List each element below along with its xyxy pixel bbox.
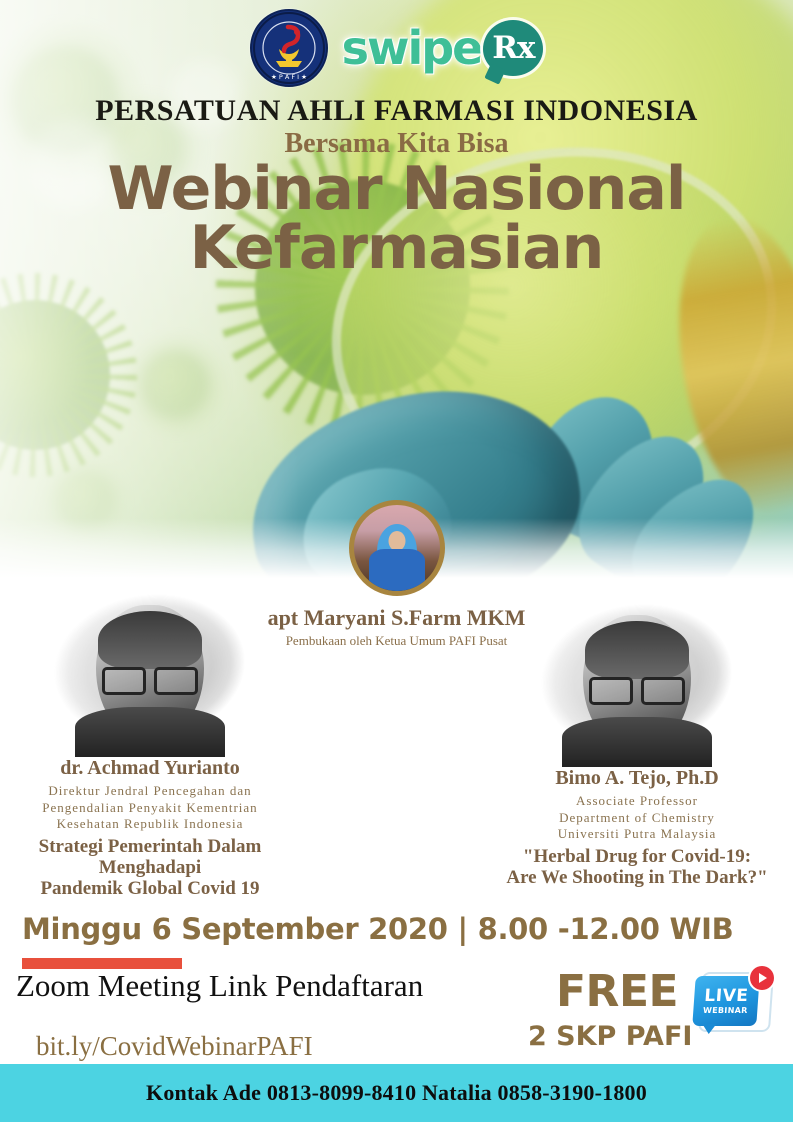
- speaker-topic-line: Are We Shooting in The Dark?": [487, 867, 787, 888]
- pafi-logo-icon: ★ P A F I ★: [250, 9, 328, 87]
- speaker-shoulders: [562, 717, 712, 767]
- headline-block: PERSATUAN AHLI FARMASI INDONESIA Bersama…: [0, 95, 793, 277]
- speaker-shoulders: [75, 707, 225, 757]
- badge-webinar-text: WEBINAR: [703, 1007, 748, 1015]
- speaker-affiliation-line: Pengendalian Penyakit Kementrian: [0, 800, 300, 817]
- speaker-affiliation-line: Universiti Putra Malaysia: [487, 826, 787, 843]
- speaker-topic: Strategi Pemerintah Dalam Menghadapi Pan…: [0, 836, 300, 900]
- speaker-name: dr. Achmad Yurianto: [0, 757, 300, 780]
- center-speaker-name: apt Maryani S.Farm MKM: [0, 606, 793, 630]
- logo-row: ★ P A F I ★ swipe Rx: [0, 8, 793, 88]
- registration-link[interactable]: bit.ly/CovidWebinarPAFI: [36, 1031, 313, 1062]
- speaker-topic-line: Strategi Pemerintah Dalam Menghadapi: [0, 836, 300, 879]
- skp-credits-label: 2 SKP PAFI: [528, 1021, 692, 1052]
- platform-registration-label: Zoom Meeting Link Pendaftaran: [16, 968, 423, 1004]
- glasses-icon: [102, 667, 198, 689]
- play-button-icon: [750, 966, 774, 990]
- badge-live-text: LIVE: [704, 988, 749, 1005]
- rx-bubble-icon: Rx: [483, 20, 543, 76]
- speaker-topic-line: Pandemik Global Covid 19: [0, 878, 300, 899]
- center-speaker: apt Maryani S.Farm MKM Pembukaan oleh Ke…: [0, 500, 793, 648]
- speaker-affiliation-line: Kesehatan Republik Indonesia: [0, 816, 300, 833]
- speaker-affiliation-line: Direktur Jendral Pencegahan dan: [0, 783, 300, 800]
- speaker-name: Bimo A. Tejo, Ph.D: [487, 767, 787, 790]
- rx-label: Rx: [492, 30, 534, 66]
- avatar-body: [369, 549, 425, 591]
- event-datetime: Minggu 6 September 2020 | 8.00 -12.00 WI…: [22, 912, 733, 946]
- speaker-topic: "Herbal Drug for Covid-19: Are We Shooti…: [487, 846, 787, 889]
- center-speaker-role: Pembukaan oleh Ketua Umum PAFI Pusat: [0, 634, 793, 648]
- price-free-label: FREE: [556, 966, 678, 1017]
- poster-title: Webinar Nasional Kefarmasian: [0, 160, 793, 278]
- speaker-affiliation: Associate Professor Department of Chemis…: [487, 793, 787, 843]
- swiperx-logo: swipe Rx: [342, 20, 544, 76]
- live-webinar-badge: LIVE WEBINAR: [694, 970, 772, 1036]
- contact-text: Kontak Ade 0813-8099-8410 Natalia 0858-3…: [146, 1080, 647, 1106]
- webinar-poster: ★ P A F I ★ swipe Rx PERSATUAN AHLI FARM…: [0, 0, 793, 1122]
- speaker-affiliation-line: Department of Chemistry: [487, 810, 787, 827]
- avatar-face: [388, 531, 405, 551]
- center-speaker-avatar: [349, 500, 445, 596]
- speaker-topic-line: "Herbal Drug for Covid-19:: [487, 846, 787, 867]
- swipe-wordmark: swipe: [342, 25, 482, 71]
- poster-title-line2: Kefarmasian: [0, 219, 793, 278]
- glasses-icon: [589, 677, 685, 699]
- svg-text:★ P A F I ★: ★ P A F I ★: [271, 73, 307, 81]
- badge-front-layer: LIVE WEBINAR: [692, 976, 759, 1026]
- speaker-affiliation-line: Associate Professor: [487, 793, 787, 810]
- contact-footer-bar: Kontak Ade 0813-8099-8410 Natalia 0858-3…: [0, 1064, 793, 1122]
- organization-name: PERSATUAN AHLI FARMASI INDONESIA: [0, 95, 793, 127]
- speaker-affiliation: Direktur Jendral Pencegahan dan Pengenda…: [0, 783, 300, 833]
